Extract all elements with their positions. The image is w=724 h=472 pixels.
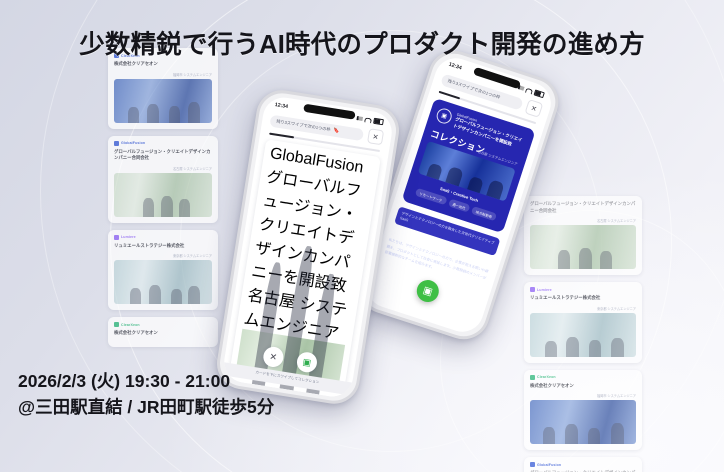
card-photo: [530, 313, 636, 357]
photo-figures-icon: [114, 96, 212, 122]
photo-figures-icon: [530, 243, 636, 269]
card-logo-label: GlobalFusion: [121, 141, 145, 145]
event-venue: @三田駅直結 / JR田町駅徒歩5分: [18, 394, 274, 420]
wifi-icon: [525, 87, 533, 94]
card-logo-label: ClearXeon: [121, 323, 140, 327]
card-logo: ClearXeon: [114, 322, 212, 327]
signal-icon: [356, 116, 363, 121]
list-item[interactable]: ClearXeon 株式会社クリアセオン 福岡市 システムエンジニア: [524, 370, 642, 451]
wifi-icon: [364, 117, 372, 123]
collect-button[interactable]: ▣: [296, 351, 319, 374]
card-logo: GlobalFusion: [530, 462, 636, 467]
photo-figures-icon: [114, 190, 212, 216]
logo-mark-icon: [114, 322, 119, 327]
status-time: 12:34: [274, 102, 288, 110]
card-logo-label: GlobalFusion: [537, 463, 561, 467]
card-title: 株式会社クリアセオン: [530, 383, 636, 390]
photo-figures-icon: [530, 330, 636, 356]
card-title: リュミエールストラテジー株式会社: [530, 295, 636, 302]
card-logo: Lumiere: [114, 235, 212, 240]
card-meta: 名古屋 システムエンジニア: [530, 218, 636, 223]
card-logo: GlobalFusion: [114, 141, 212, 146]
swipe-counter-label: 残り3スワイプで次の1つの枠: [276, 118, 331, 133]
card-photo: [114, 260, 212, 304]
close-button[interactable]: ✕: [524, 99, 543, 118]
card-meta: 福岡市 システムエンジニア: [530, 393, 636, 398]
list-item[interactable]: GlobalFusion グローバルフュージョン・クリエイトデザインカンパニー合…: [108, 136, 218, 223]
photo-figures-icon: [114, 278, 212, 304]
event-datetime: 2026/2/3 (火) 19:30 - 21:00: [18, 368, 274, 394]
phone-center: 12:34 残り3スワイプで次の1つの枠 🔖 ✕: [213, 87, 402, 408]
card-title: 株式会社クリアセオン: [114, 61, 212, 68]
card-logo: ClearXeon: [530, 375, 636, 380]
left-card-stack: ClearXeon 株式会社クリアセオン 福岡市 システムエンジニア Globa…: [108, 82, 218, 354]
list-item[interactable]: ClearXeon 株式会社クリアセオン: [108, 317, 218, 347]
card-logo-label: Lumiere: [537, 288, 552, 292]
phone-center-body: 12:34 残り3スワイプで次の1つの枠 🔖 ✕: [213, 87, 402, 408]
right-card-stack: グローバルフュージョン・クリエイトデザインカンパニー合同会社 名古屋 システムエ…: [524, 196, 642, 472]
logo-mark-icon: [530, 375, 535, 380]
card-photo: [530, 225, 636, 269]
poster-canvas: ClearXeon 株式会社クリアセオン 福岡市 システムエンジニア Globa…: [0, 0, 724, 472]
card-meta: 東京都 システムエンジニア: [114, 253, 212, 258]
collect-fab[interactable]: ▣: [414, 277, 442, 305]
card-photo: [114, 79, 212, 123]
list-item[interactable]: Lumiere リュミエールストラテジー株式会社 東京都 システムエンジニア: [108, 230, 218, 311]
close-button[interactable]: ✕: [367, 128, 384, 145]
card-photo: [114, 173, 212, 217]
event-info: 2026/2/3 (火) 19:30 - 21:00 @三田駅直結 / JR田町…: [18, 368, 274, 421]
list-item[interactable]: GlobalFusion グローバルフュージョン・クリエイトデザインカンパニー合…: [524, 457, 642, 472]
card-title: 株式会社クリアセオン: [114, 330, 212, 337]
logo-mark-icon: [114, 235, 119, 240]
card-logo-label: Lumiere: [121, 235, 136, 239]
list-item[interactable]: Lumiere リュミエールストラテジー株式会社 東京都 システムエンジニア: [524, 282, 642, 363]
skip-button[interactable]: ✕: [262, 345, 285, 368]
card-title: グローバルフュージョン・クリエイトデザインカンパニー合同会社: [114, 149, 212, 162]
card-meta: 名古屋 システムエンジニア: [114, 166, 212, 171]
card-title: リュミエールストラテジー株式会社: [114, 243, 212, 250]
page-title: 少数精鋭で行うAI時代のプロダクト開発の進め方: [0, 24, 724, 61]
collection-badge-icon: ▣: [435, 107, 454, 126]
card-meta: 東京都 システムエンジニア: [530, 306, 636, 311]
phone-center-screen: 12:34 残り3スワイプで次の1つの枠 🔖 ✕: [221, 95, 394, 400]
list-item[interactable]: グローバルフュージョン・クリエイトデザインカンパニー合同会社 名古屋 システムエ…: [524, 196, 642, 275]
card-logo-label: ClearXeon: [537, 375, 556, 379]
battery-icon: [373, 118, 384, 125]
card-logo: Lumiere: [530, 287, 636, 292]
bookmark-icon: 🔖: [333, 127, 340, 134]
card-photo: [530, 400, 636, 444]
logo-mark-icon: [530, 287, 535, 292]
logo-mark-icon: [530, 462, 535, 467]
photo-figures-icon: [530, 418, 636, 444]
card-title: グローバルフュージョン・クリエイトデザインカンパニー合同会社: [530, 201, 636, 214]
logo-mark-icon: [114, 141, 119, 146]
card-meta: 福岡市 システムエンジニア: [114, 72, 212, 77]
